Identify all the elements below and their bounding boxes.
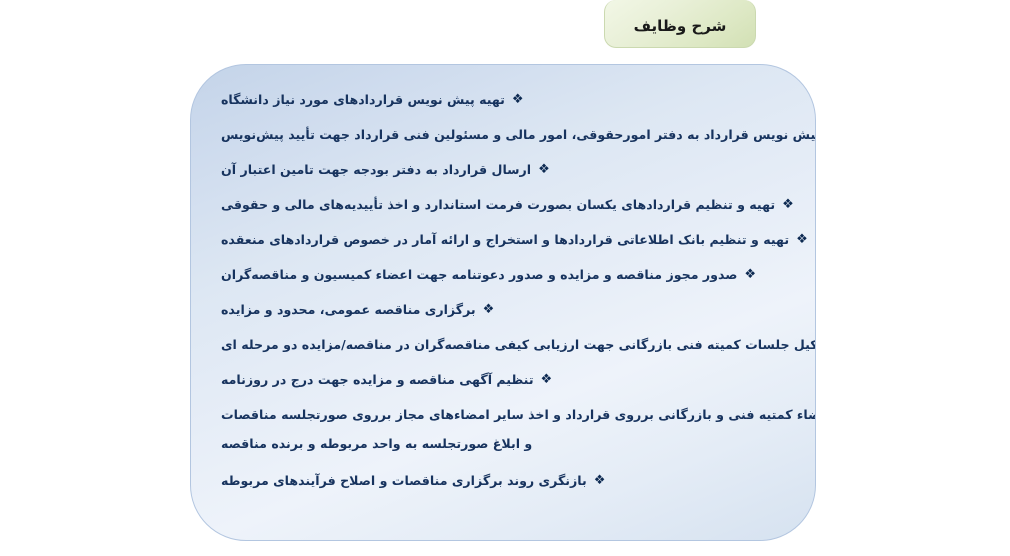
page-title: شرح وظایف — [634, 17, 727, 35]
diamond-bullet-icon: ❖ — [782, 196, 794, 214]
list-item: ❖ برگزاری مناقصه عمومی، محدود و مزایده — [221, 301, 785, 319]
list-item-label: تهیه و تنظیم قراردادهای یکسان بصورت فرمت… — [221, 196, 775, 214]
list-item-label: بازنگری روند برگزاری مناقصات و اصلاح فرآ… — [221, 472, 587, 490]
list-item: ❖ تهیه و تنظیم قراردادهای یکسان بصورت فر… — [221, 196, 785, 214]
list-item: ❖ ارسال پیش نویس قرارداد به دفتر امورحقو… — [221, 126, 785, 144]
diamond-bullet-icon: ❖ — [512, 91, 524, 109]
list-item-label: ارسال پیش نویس قرارداد به دفتر امورحقوقی… — [221, 126, 816, 144]
diamond-bullet-icon: ❖ — [538, 161, 550, 179]
list-item: ❖ تنظیم آگهی مناقصه و مزایده جهت درج در … — [221, 371, 785, 389]
list-item: ❖ بازنگری روند برگزاری مناقصات و اصلاح ف… — [221, 472, 785, 490]
list-item: ❖ تهیه و تنظیم بانک اطلاعاتی قراردادها و… — [221, 231, 785, 249]
list-item: ❖ تشکیل جلسات کمیته فنی بازرگانی جهت ارز… — [221, 336, 785, 354]
list-item-continuation: و ابلاغ صورتجلسه به واحد مربوطه و برنده … — [221, 435, 785, 453]
list-item-label: برگزاری مناقصه عمومی، محدود و مزایده — [221, 301, 476, 319]
list-item-label: تنظیم آگهی مناقصه و مزایده جهت درج در رو… — [221, 371, 534, 389]
diamond-bullet-icon: ❖ — [483, 301, 495, 319]
list-item: ❖ صدور مجوز مناقصه و مزایده و صدور دعوتن… — [221, 266, 785, 284]
section-header-box: شرح وظایف — [604, 0, 756, 48]
list-item-label: تشکیل جلسات کمیته فنی بازرگانی جهت ارزیا… — [221, 336, 816, 354]
duties-list: ❖ تهیه پیش نویس قراردادهای مورد نیاز دان… — [191, 65, 815, 490]
diamond-bullet-icon: ❖ — [541, 371, 553, 389]
slide-canvas: { "header": { "title": "شرح وظایف", "box… — [0, 0, 1010, 556]
list-item: ❖ ارسال قرارداد به دفتر بودجه جهت تامین … — [221, 161, 785, 179]
list-item-label: صدور مجوز مناقصه و مزایده و صدور دعوتنام… — [221, 266, 737, 284]
list-item: ❖ تهیه پیش نویس قراردادهای مورد نیاز دان… — [221, 91, 785, 109]
diamond-bullet-icon: ❖ — [594, 472, 606, 490]
diamond-bullet-icon: ❖ — [744, 266, 756, 284]
duties-panel: ❖ تهیه پیش نویس قراردادهای مورد نیاز دان… — [190, 64, 816, 541]
list-item-label: اخذ امضاء اعضاء کمتیه فنی و بازرگانی برر… — [221, 406, 816, 424]
diamond-bullet-icon: ❖ — [796, 231, 808, 249]
list-item-label: و ابلاغ صورتجلسه به واحد مربوطه و برنده … — [221, 435, 532, 453]
list-item: ❖ اخذ امضاء اعضاء کمتیه فنی و بازرگانی ب… — [221, 406, 785, 424]
list-item-label: تهیه پیش نویس قراردادهای مورد نیاز دانشگ… — [221, 91, 505, 109]
list-item-label: ارسال قرارداد به دفتر بودجه جهت تامین اع… — [221, 161, 531, 179]
list-item-label: تهیه و تنظیم بانک اطلاعاتی قراردادها و ا… — [221, 231, 789, 249]
